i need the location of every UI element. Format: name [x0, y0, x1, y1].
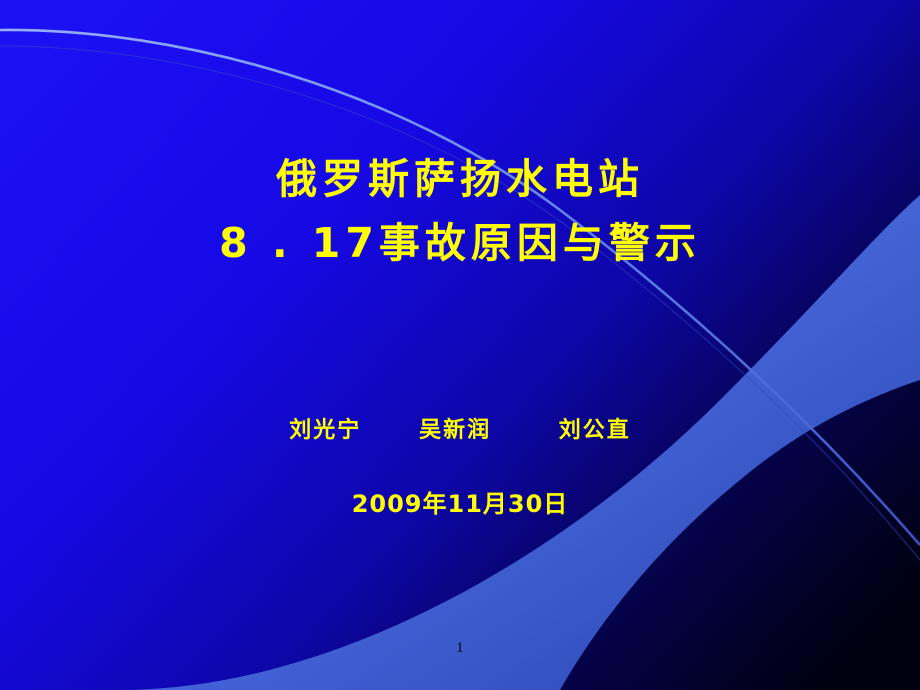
slide-title: 俄罗斯萨扬水电站 8 . 17事故原因与警示 — [0, 148, 920, 275]
slide-title-line-2: 8 . 17事故原因与警示 — [0, 212, 920, 276]
slide-date: 2009年11月30日 — [0, 484, 920, 519]
slide-content: 俄罗斯萨扬水电站 8 . 17事故原因与警示 刘光宁 吴新润 刘公直 2009年… — [0, 0, 920, 690]
presentation-slide: 俄罗斯萨扬水电站 8 . 17事故原因与警示 刘光宁 吴新润 刘公直 2009年… — [0, 0, 920, 690]
slide-title-line-1: 俄罗斯萨扬水电站 — [0, 148, 920, 212]
page-number: 1 — [0, 640, 920, 657]
slide-authors: 刘光宁 吴新润 刘公直 — [0, 412, 920, 444]
